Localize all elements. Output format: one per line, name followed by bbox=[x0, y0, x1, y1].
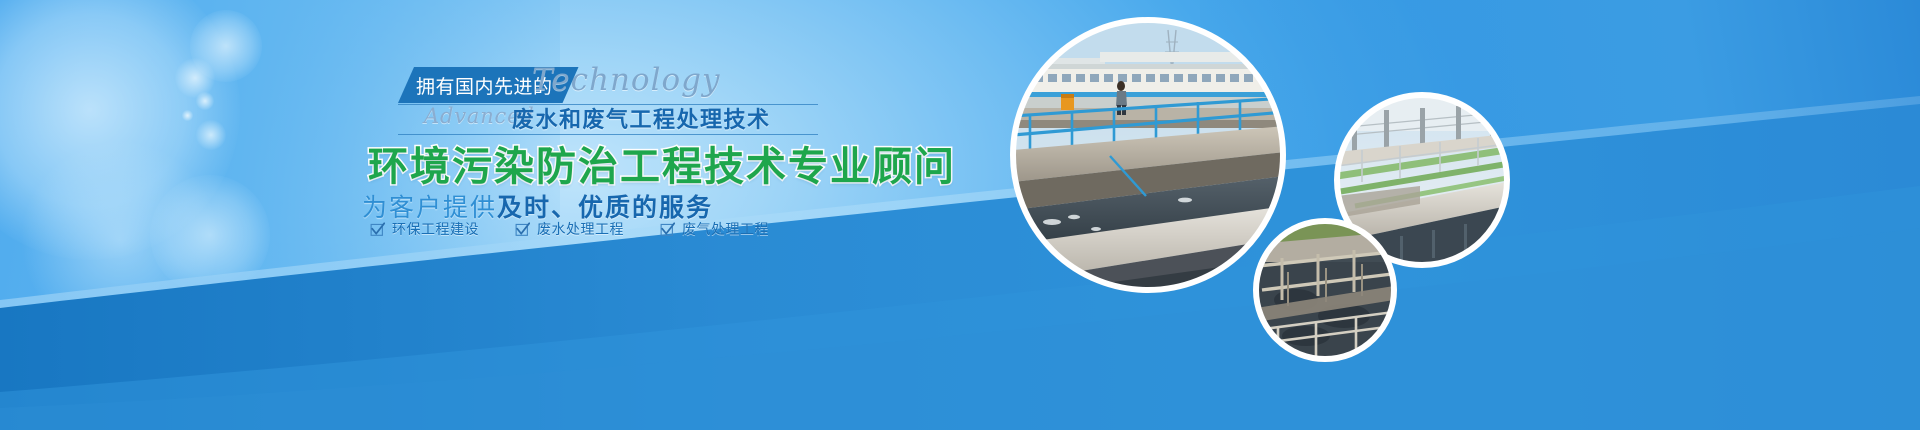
checklist-item[interactable]: 环保工程建设 bbox=[370, 219, 479, 239]
check-box-icon bbox=[660, 222, 675, 237]
checklist-item[interactable]: 废气处理工程 bbox=[660, 219, 769, 239]
checklist-item-label: 废水处理工程 bbox=[537, 219, 624, 239]
script-technology: Technology bbox=[532, 62, 721, 98]
tagline-strong: 及时、优质的服务 bbox=[497, 193, 713, 222]
tagline-soft: 为客户提供 bbox=[362, 193, 497, 222]
check-box-icon bbox=[515, 222, 530, 237]
subtitle-chinese: 废水和废气工程处理技术 bbox=[512, 102, 771, 134]
promo-banner: 拥有国内先进的 Technology Advanced 废水和废气工程处理技术 … bbox=[0, 0, 1920, 430]
checklist-item[interactable]: 废水处理工程 bbox=[515, 219, 624, 239]
checklist-item-label: 废气处理工程 bbox=[682, 219, 769, 239]
checklist-item-label: 环保工程建设 bbox=[392, 219, 479, 239]
checklist: 环保工程建设 废水处理工程 废气处理工程 bbox=[370, 219, 769, 239]
headline: 环境污染防治工程技术专业顾问 bbox=[368, 134, 956, 192]
banner-copy: 拥有国内先进的 Technology Advanced 废水和废气工程处理技术 … bbox=[0, 0, 1920, 430]
check-box-icon bbox=[370, 222, 385, 237]
